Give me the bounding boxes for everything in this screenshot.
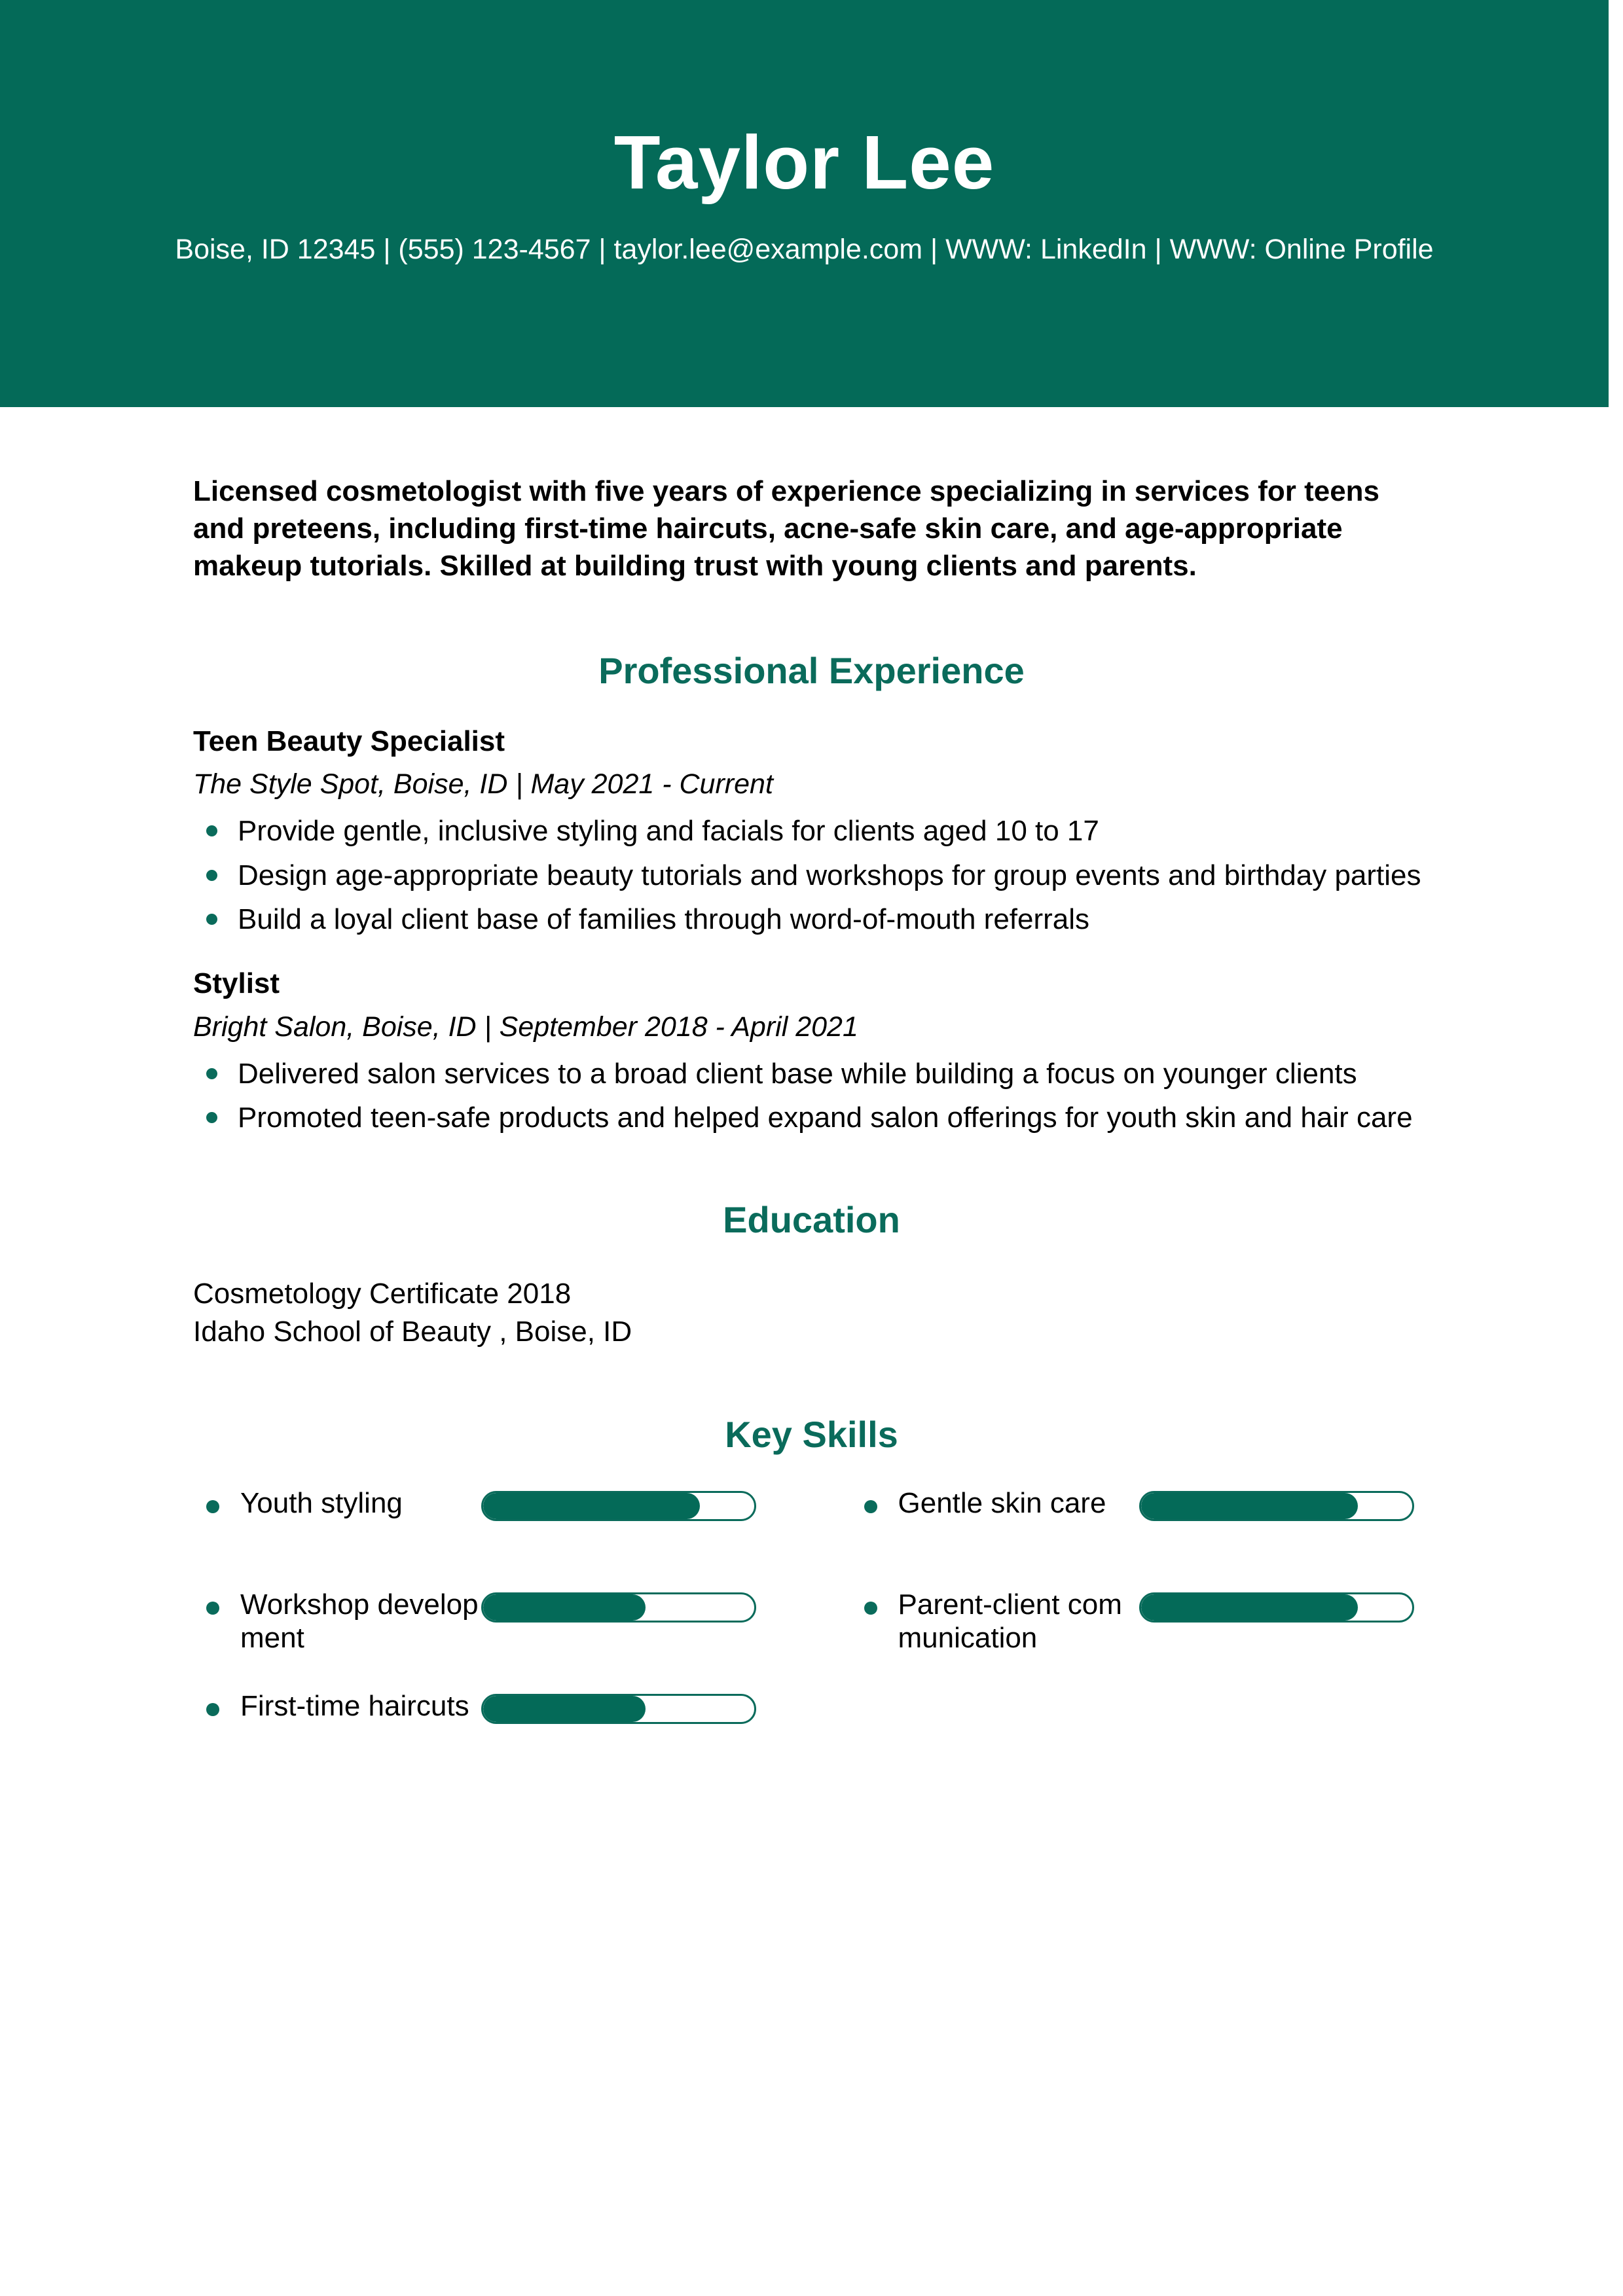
job-title: Teen Beauty Specialist [193, 725, 1430, 759]
skill-item: Youth styling [193, 1487, 773, 1588]
professional-summary: Licensed cosmetologist with five years o… [193, 473, 1430, 585]
skill-bullet: Workshop development [193, 1588, 481, 1655]
skill-label: First-time haircuts [240, 1690, 469, 1722]
resume-header: Taylor Lee Boise, ID 12345 | (555) 123-4… [0, 0, 1609, 407]
skill-item: Workshop development [193, 1588, 773, 1690]
page-title: Taylor Lee [614, 124, 995, 200]
skill-level-bar [1139, 1592, 1414, 1623]
skill-level-bar [481, 1491, 756, 1521]
list-item: Delivered salon services to a broad clie… [193, 1055, 1430, 1092]
list-item: Design age-appropriate beauty tutorials … [193, 857, 1430, 894]
skill-level-fill [1141, 1594, 1358, 1621]
job-bullet-list: Delivered salon services to a broad clie… [193, 1055, 1430, 1136]
section-heading-education: Education [193, 1198, 1430, 1241]
skill-bullet: First-time haircuts [193, 1690, 481, 1723]
skill-level-bar [481, 1592, 756, 1623]
section-heading-skills: Key Skills [193, 1413, 1430, 1456]
skill-label: Youth styling [240, 1487, 403, 1519]
skill-level-fill [1141, 1493, 1358, 1519]
list-item: Build a loyal client base of families th… [193, 901, 1430, 938]
skill-bullet: Gentle skin care [851, 1487, 1139, 1520]
education-entry: Cosmetology Certificate 2018 Idaho Schoo… [193, 1275, 1430, 1351]
job-company-dates: Bright Salon, Boise, ID | September 2018… [193, 1008, 1430, 1046]
skill-level-bar [1139, 1491, 1414, 1521]
resume-page: Taylor Lee Boise, ID 12345 | (555) 123-4… [0, 0, 1623, 2296]
experience-entry: Teen Beauty Specialist The Style Spot, B… [193, 725, 1430, 938]
skills-column-left: Youth styling Workshop development [193, 1487, 773, 1791]
education-degree: Cosmetology Certificate 2018 [193, 1275, 1430, 1313]
job-title: Stylist [193, 967, 1430, 1001]
list-item: Provide gentle, inclusive styling and fa… [193, 812, 1430, 850]
skill-item: Gentle skin care [851, 1487, 1431, 1588]
skill-item: Parent-client communication [851, 1588, 1431, 1690]
skill-level-fill [483, 1493, 700, 1519]
skill-item: First-time haircuts [193, 1690, 773, 1791]
skill-level-bar [481, 1694, 756, 1724]
section-heading-experience: Professional Experience [193, 649, 1430, 692]
job-bullet-list: Provide gentle, inclusive styling and fa… [193, 812, 1430, 938]
resume-body: Licensed cosmetologist with five years o… [0, 407, 1623, 1791]
job-company-dates: The Style Spot, Boise, ID | May 2021 - C… [193, 765, 1430, 803]
skill-level-fill [483, 1594, 646, 1621]
skill-bullet: Parent-client communication [851, 1588, 1139, 1655]
list-item: Promoted teen-safe products and helped e… [193, 1099, 1430, 1136]
skills-column-right: Gentle skin care Parent-client communica… [851, 1487, 1431, 1791]
skill-label: Workshop development [240, 1588, 479, 1654]
experience-entry: Stylist Bright Salon, Boise, ID | Septem… [193, 967, 1430, 1136]
skill-bullet: Youth styling [193, 1487, 481, 1520]
skill-level-fill [483, 1696, 646, 1722]
skills-grid: Youth styling Workshop development [193, 1487, 1430, 1791]
education-school: Idaho School of Beauty , Boise, ID [193, 1313, 1430, 1351]
skill-label: Parent-client communication [898, 1588, 1122, 1654]
contact-line: Boise, ID 12345 | (555) 123-4567 | taylo… [175, 230, 1433, 268]
skill-label: Gentle skin care [898, 1487, 1106, 1519]
